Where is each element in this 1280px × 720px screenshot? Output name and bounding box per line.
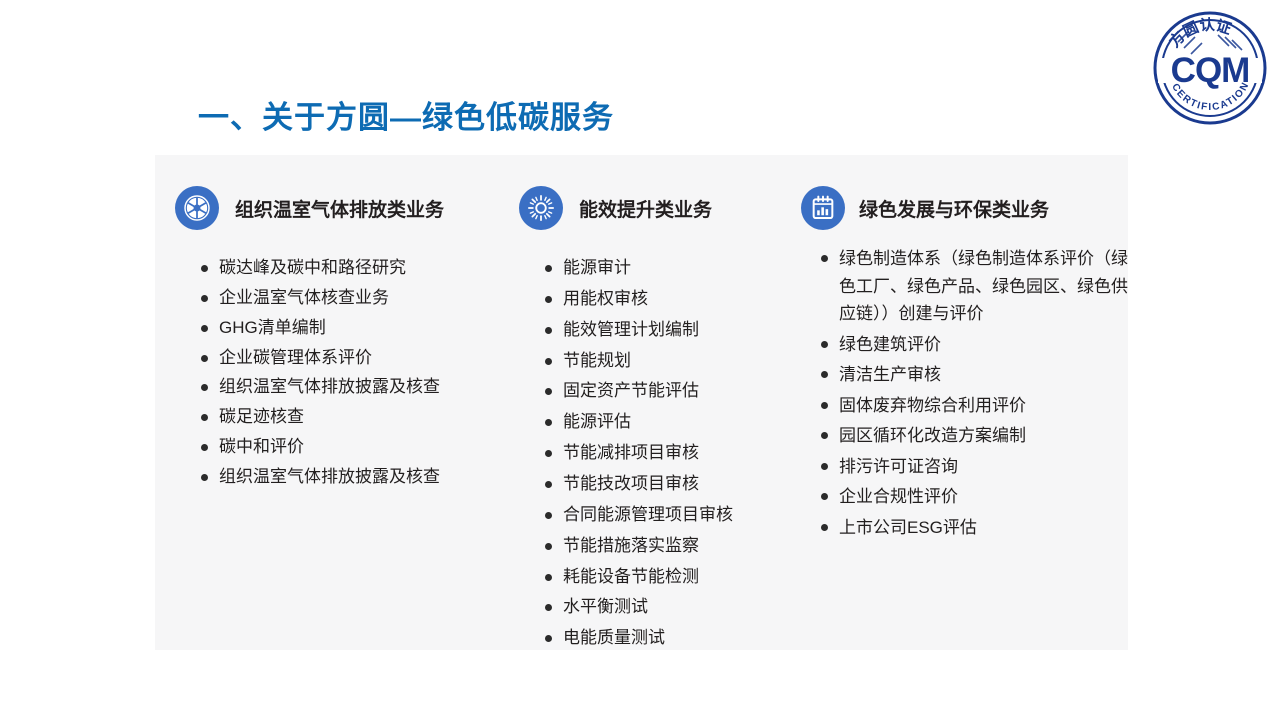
service-column-green-development: 绿色发展与环保类业务 绿色制造体系（绿色制造体系评价（绿色工厂、绿色产品、绿色园…: [793, 155, 1128, 544]
list-item: 碳达峰及碳中和路径研究: [201, 255, 503, 282]
column-header-green-development: 绿色发展与环保类业务: [801, 183, 1128, 233]
list-item: GHG清单编制: [201, 315, 503, 342]
list-item: 电能质量测试: [545, 625, 793, 652]
svg-text:CQM: CQM: [1171, 51, 1250, 90]
list-item: 耗能设备节能检测: [545, 564, 793, 591]
service-list-efficiency: 能源审计 用能权审核 能效管理计划编制 节能规划 固定资产节能评估 能源评估 节…: [519, 255, 793, 652]
list-item: 固体废弃物综合利用评价: [821, 392, 1128, 420]
list-item: 碳足迹核查: [201, 404, 503, 431]
list-item: 能源审计: [545, 255, 793, 282]
list-item: 绿色建筑评价: [821, 331, 1128, 359]
list-item: 组织温室气体排放披露及核查: [201, 374, 503, 401]
services-panel: 组织温室气体排放类业务 碳达峰及碳中和路径研究 企业温室气体核查业务 GHG清单…: [155, 155, 1128, 650]
list-item: 合同能源管理项目审核: [545, 502, 793, 529]
list-item: 能源评估: [545, 409, 793, 436]
column-header-ghg: 组织温室气体排放类业务: [175, 183, 503, 233]
aperture-icon: [175, 186, 219, 230]
service-column-ghg: 组织温室气体排放类业务 碳达峰及碳中和路径研究 企业温室气体核查业务 GHG清单…: [155, 155, 503, 494]
sun-icon: [519, 186, 563, 230]
list-item: 节能规划: [545, 348, 793, 375]
list-item: 园区循环化改造方案编制: [821, 422, 1128, 450]
list-item: 用能权审核: [545, 286, 793, 313]
service-list-green-development: 绿色制造体系（绿色制造体系评价（绿色工厂、绿色产品、绿色园区、绿色供应链））创建…: [801, 245, 1128, 541]
list-item: 固定资产节能评估: [545, 378, 793, 405]
list-item: 企业温室气体核查业务: [201, 285, 503, 312]
list-item: 绿色制造体系（绿色制造体系评价（绿色工厂、绿色产品、绿色园区、绿色供应链））创建…: [821, 245, 1128, 328]
list-item: 上市公司ESG评估: [821, 514, 1128, 542]
column-heading-label: 组织温室气体排放类业务: [235, 195, 444, 222]
list-item: 清洁生产审核: [821, 361, 1128, 389]
cqm-logo: 方圆认证 CQM CERTIFICATION: [1148, 6, 1272, 130]
column-heading-label: 绿色发展与环保类业务: [859, 195, 1049, 222]
column-header-efficiency: 能效提升类业务: [519, 183, 793, 233]
list-item: 企业碳管理体系评价: [201, 345, 503, 372]
list-item: 水平衡测试: [545, 594, 793, 621]
list-item: 能效管理计划编制: [545, 317, 793, 344]
column-heading-label: 能效提升类业务: [579, 195, 712, 222]
list-item: 节能措施落实监察: [545, 533, 793, 560]
service-column-efficiency: 能效提升类业务 能源审计 用能权审核 能效管理计划编制 节能规划 固定资产节能评…: [503, 155, 793, 656]
cqm-certification-seal-icon: 方圆认证 CQM CERTIFICATION: [1148, 6, 1272, 130]
service-list-ghg: 碳达峰及碳中和路径研究 企业温室气体核查业务 GHG清单编制 企业碳管理体系评价…: [175, 255, 503, 491]
list-item: 节能减排项目审核: [545, 440, 793, 467]
list-item: 节能技改项目审核: [545, 471, 793, 498]
page-title: 一、关于方圆—绿色低碳服务: [198, 92, 614, 137]
list-item: 企业合规性评价: [821, 483, 1128, 511]
list-item: 碳中和评价: [201, 434, 503, 461]
list-item: 排污许可证咨询: [821, 453, 1128, 481]
list-item: 组织温室气体排放披露及核查: [201, 464, 503, 491]
services-columns: 组织温室气体排放类业务 碳达峰及碳中和路径研究 企业温室气体核查业务 GHG清单…: [155, 155, 1128, 650]
calendar-chart-icon: [801, 186, 845, 230]
